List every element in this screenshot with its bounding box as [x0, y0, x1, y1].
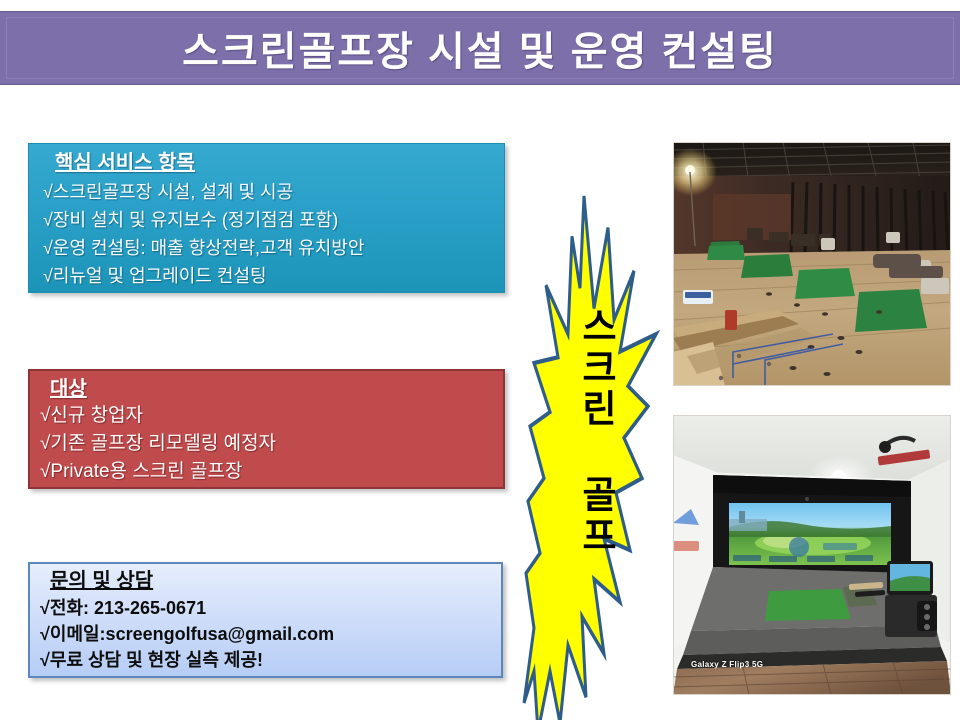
list-item: √신규 창업자 — [40, 402, 503, 430]
target-audience-heading: 대상 — [50, 376, 503, 402]
list-item: √스크린골프장 시설, 설계 및 시공 — [43, 178, 504, 206]
list-item: √Private용 스크린 골프장 — [40, 458, 503, 486]
contact-free-consult: √무료 상담 및 현장 실측 제공! — [40, 647, 501, 673]
screen-golf-room-photo: Galaxy Z Flip3 5G — [673, 415, 951, 695]
contact-heading: 문의 및 상담 — [50, 568, 501, 595]
starburst-callout: 스크린 골프 — [524, 196, 656, 716]
list-item: √장비 설치 및 유지보수 (정기점검 포함) — [43, 206, 504, 234]
core-services-heading: 핵심 서비스 항목 — [55, 150, 504, 176]
title-banner-inner-frame: 스크린골프장 시설 및 운영 컨설팅 — [6, 17, 954, 79]
page-title: 스크린골프장 시설 및 운영 컨설팅 — [182, 19, 778, 77]
core-services-box: 핵심 서비스 항목 √스크린골프장 시설, 설계 및 시공 √장비 설치 및 유… — [28, 143, 505, 293]
screen-golf-construction-photo — [673, 142, 951, 386]
construction-photo-image — [673, 142, 951, 386]
list-item: √리뉴얼 및 업그레이드 컨설팅 — [43, 262, 504, 290]
photo-watermark-caption: Galaxy Z Flip3 5G — [691, 660, 763, 669]
target-audience-list: √신규 창업자 √기존 골프장 리모델링 예정자 √Private용 스크린 골… — [40, 402, 503, 486]
target-audience-box: 대상 √신규 창업자 √기존 골프장 리모델링 예정자 √Private용 스크… — [28, 369, 505, 489]
contact-email: √이메일:screengolfusa@gmail.com — [40, 621, 501, 647]
contact-list: √전화: 213-265-0671 √이메일:screengolfusa@gma… — [40, 595, 501, 673]
starburst-text-wrap: 스크린 골프 — [524, 196, 656, 716]
list-item: √기존 골프장 리모델링 예정자 — [40, 430, 503, 458]
core-services-list: √스크린골프장 시설, 설계 및 시공 √장비 설치 및 유지보수 (정기점검 … — [43, 178, 504, 290]
title-banner: 스크린골프장 시설 및 운영 컨설팅 — [0, 11, 960, 85]
contact-box: 문의 및 상담 √전화: 213-265-0671 √이메일:screengol… — [28, 562, 503, 678]
list-item: √운영 컨설팅: 매출 향상전략,고객 유치방안 — [43, 234, 504, 262]
starburst-label: 스크린 골프 — [578, 307, 615, 557]
contact-phone: √전화: 213-265-0671 — [40, 595, 501, 621]
room-photo-image — [673, 415, 951, 695]
